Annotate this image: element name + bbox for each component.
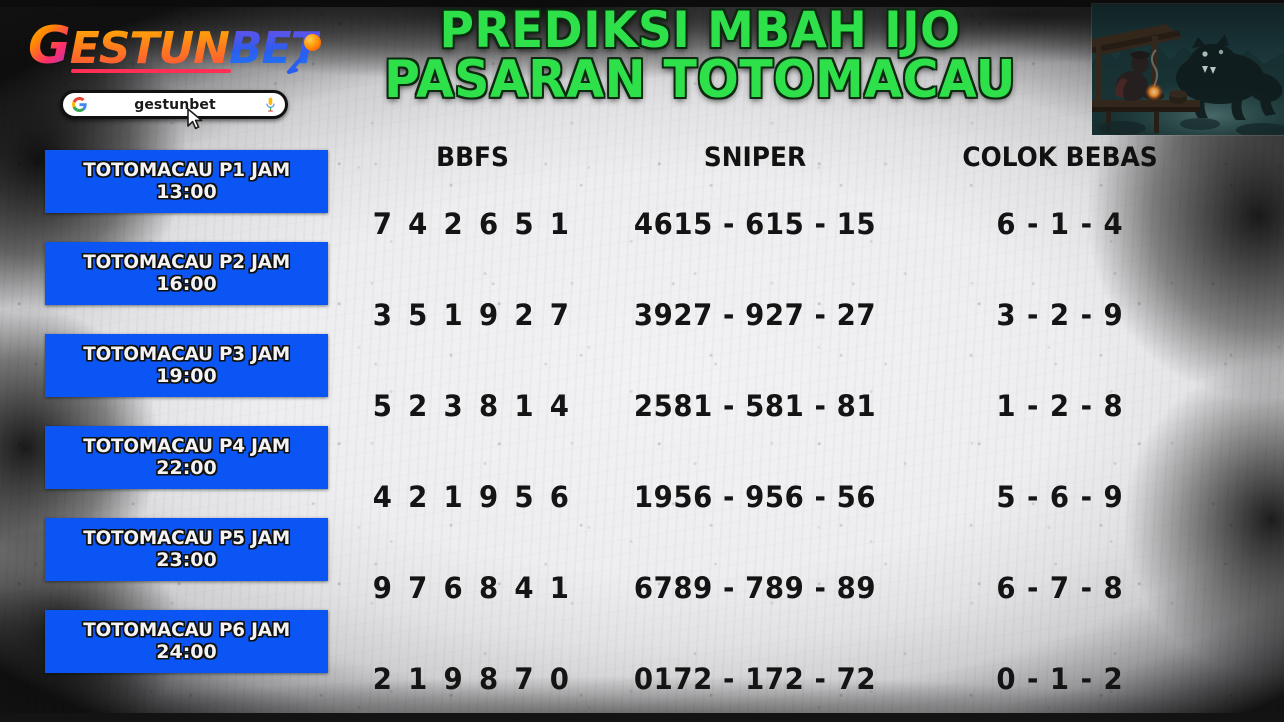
brand-logo-text: GESTUNBET (28, 20, 320, 72)
column-header-bbfs: BBFS (355, 142, 590, 173)
market-button-p2[interactable]: TOTOMACAU P2 JAM 16:00 (45, 242, 328, 305)
brand-logo-underline (71, 69, 231, 73)
cell-bbfs: 2 1 9 8 7 0 (351, 662, 593, 696)
table-row: 2 1 9 8 7 0 0172 - 172 - 72 0 - 1 - 2 (345, 633, 1255, 722)
market-button-p6[interactable]: TOTOMACAU P6 JAM 24:00 (45, 610, 328, 673)
cell-colok-bebas: 0 - 1 - 2 (918, 662, 1203, 696)
market-button-p3[interactable]: TOTOMACAU P3 JAM 19:00 (45, 334, 328, 397)
cell-sniper: 6789 - 789 - 89 (608, 571, 903, 605)
market-name: TOTOMACAU P6 JAM (83, 621, 290, 641)
market-name: TOTOMACAU P1 JAM (83, 161, 290, 181)
cell-sniper: 2581 - 581 - 81 (608, 389, 903, 423)
market-time: 24:00 (156, 642, 216, 663)
cell-sniper: 3927 - 927 - 27 (608, 298, 903, 332)
market-name: TOTOMACAU P2 JAM (83, 253, 290, 273)
market-button-p1[interactable]: TOTOMACAU P1 JAM 13:00 (45, 150, 328, 213)
mouse-cursor-icon (186, 108, 204, 130)
market-name: TOTOMACAU P5 JAM (83, 529, 290, 549)
market-time: 16:00 (156, 274, 216, 295)
mystic-panther-illustration (1092, 4, 1284, 135)
cell-colok-bebas: 5 - 6 - 9 (918, 480, 1203, 514)
table-row: 5 2 3 8 1 4 2581 - 581 - 81 1 - 2 - 8 (345, 360, 1255, 451)
poster-canvas: GESTUNBET gestunbet (0, 0, 1284, 722)
market-time: 22:00 (156, 458, 216, 479)
cell-bbfs: 7 4 2 6 5 1 (351, 207, 593, 241)
market-name: TOTOMACAU P4 JAM (83, 437, 290, 457)
cell-bbfs: 5 2 3 8 1 4 (351, 389, 593, 423)
cell-colok-bebas: 6 - 7 - 8 (918, 571, 1203, 605)
brand-logo-estun: ESTUN (70, 23, 229, 74)
cell-sniper: 4615 - 615 - 15 (608, 207, 903, 241)
column-header-sniper: SNIPER (612, 142, 897, 173)
market-button-p5[interactable]: TOTOMACAU P5 JAM 23:00 (45, 518, 328, 581)
cell-colok-bebas: 1 - 2 - 8 (918, 389, 1203, 423)
brand-logo-g: G (28, 16, 70, 76)
google-search-bar[interactable]: gestunbet (60, 90, 288, 119)
microphone-icon[interactable] (259, 97, 281, 113)
table-row: 7 4 2 6 5 1 4615 - 615 - 15 6 - 1 - 4 (345, 178, 1255, 269)
table-row: 9 7 6 8 4 1 6789 - 789 - 89 6 - 7 - 8 (345, 542, 1255, 633)
brand-logo-dot-icon (304, 34, 321, 51)
table-row: 4 2 1 9 5 6 1956 - 956 - 56 5 - 6 - 9 (345, 451, 1255, 542)
cell-bbfs: 9 7 6 8 4 1 (351, 571, 593, 605)
column-header-colok-bebas: COLOK BEBAS (922, 142, 1198, 173)
market-button-p4[interactable]: TOTOMACAU P4 JAM 22:00 (45, 426, 328, 489)
market-name: TOTOMACAU P3 JAM (83, 345, 290, 365)
market-schedule-list: TOTOMACAU P1 JAM 13:00 TOTOMACAU P2 JAM … (45, 150, 328, 702)
google-g-icon (67, 97, 91, 112)
market-time: 19:00 (156, 366, 216, 387)
cell-sniper: 0172 - 172 - 72 (608, 662, 903, 696)
market-time: 13:00 (156, 182, 216, 203)
cell-bbfs: 3 5 1 9 2 7 (351, 298, 593, 332)
cell-colok-bebas: 6 - 1 - 4 (918, 207, 1203, 241)
search-query-text: gestunbet (91, 97, 259, 113)
market-time: 23:00 (156, 550, 216, 571)
prediction-table: BBFS SNIPER COLOK BEBAS 7 4 2 6 5 1 4615… (345, 142, 1255, 722)
table-row: 3 5 1 9 2 7 3927 - 927 - 27 3 - 2 - 9 (345, 269, 1255, 360)
cell-sniper: 1956 - 956 - 56 (608, 480, 903, 514)
cell-colok-bebas: 3 - 2 - 9 (918, 298, 1203, 332)
cell-bbfs: 4 2 1 9 5 6 (351, 480, 593, 514)
table-header-row: BBFS SNIPER COLOK BEBAS (345, 142, 1255, 178)
